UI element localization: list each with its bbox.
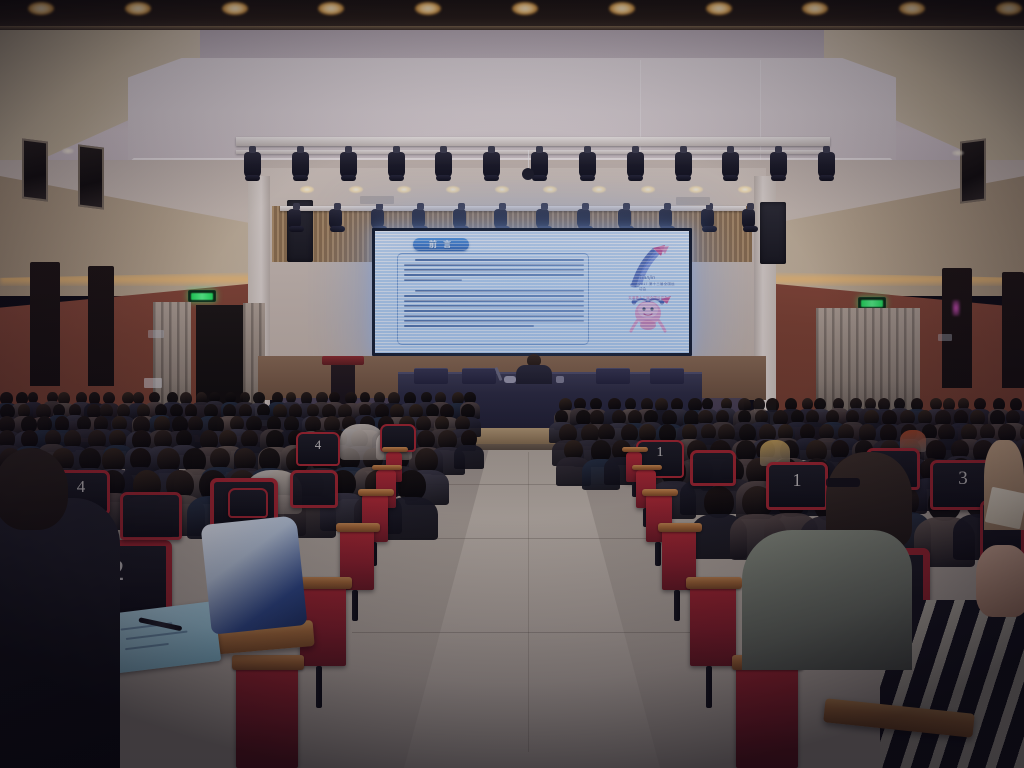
ceiling-recess-light xyxy=(415,2,441,15)
armrest-right xyxy=(686,577,742,589)
slide-body-frame xyxy=(397,253,589,345)
ceiling-downlight xyxy=(446,186,460,193)
seat-number: 4 xyxy=(315,438,322,451)
ceiling-recess-light xyxy=(899,2,925,15)
seat-number: 1 xyxy=(793,471,802,489)
ceiling-recess-light xyxy=(222,2,248,15)
upper-window xyxy=(22,138,48,201)
stage-light xyxy=(483,152,500,178)
stage-light-lower xyxy=(618,209,631,229)
stage-light-lower xyxy=(494,209,507,229)
desk-object xyxy=(504,376,516,383)
ceiling-vent xyxy=(676,197,710,205)
desk-object xyxy=(556,376,564,383)
seat-number: 4 xyxy=(77,478,86,495)
stage-light-lower xyxy=(453,209,466,229)
presenter xyxy=(516,354,552,382)
slide-text-line xyxy=(404,310,584,312)
stage-light-lower xyxy=(329,209,342,229)
auditorium-seat[interactable] xyxy=(120,492,182,540)
ceiling-downlight xyxy=(300,186,314,193)
seat-end-left[interactable] xyxy=(236,660,298,768)
stage-light xyxy=(244,152,261,178)
table-monitor[interactable] xyxy=(596,368,630,384)
stage-light-lower xyxy=(742,209,755,229)
wall-panel-box xyxy=(144,378,162,388)
exit-sign-glow xyxy=(861,300,883,307)
upper-window xyxy=(78,144,104,209)
upper-window xyxy=(960,138,986,203)
slide-text-line xyxy=(415,290,584,292)
slide-text-line xyxy=(404,315,584,317)
auditorium-seat[interactable] xyxy=(228,488,268,518)
slide-text-line xyxy=(404,320,584,322)
table-monitor[interactable] xyxy=(462,368,496,384)
seat-end-right[interactable] xyxy=(736,660,798,768)
ceiling-downlight xyxy=(641,186,655,193)
ceiling-seam xyxy=(640,60,641,164)
foreground-person-left-head xyxy=(0,448,68,530)
seat-number: 3 xyxy=(958,469,968,488)
armrest-left xyxy=(336,523,380,532)
slide-text-line xyxy=(404,300,584,302)
armrest-right xyxy=(642,489,678,496)
foreground-person-left xyxy=(0,498,120,768)
door-recess[interactable] xyxy=(30,262,60,386)
accent-light-right xyxy=(952,300,960,316)
audience-body xyxy=(454,445,484,469)
stage-light xyxy=(579,152,596,178)
ceiling-recess-light xyxy=(609,2,635,15)
seated-person-body-right xyxy=(742,530,912,670)
stage-light-lower xyxy=(412,209,425,229)
wall-speaker-right xyxy=(760,202,786,264)
presenter-body xyxy=(516,365,552,384)
ceiling-vent xyxy=(360,196,394,204)
stage-light xyxy=(722,152,739,178)
stage-light-lower xyxy=(701,209,714,229)
seat-leg xyxy=(706,666,712,708)
ceiling-recess-light xyxy=(512,2,538,15)
door-recess[interactable] xyxy=(88,266,114,386)
armrest-left xyxy=(382,447,408,452)
stage-light-lower xyxy=(536,209,549,229)
seat-leg xyxy=(655,542,661,566)
stage-light xyxy=(292,152,309,178)
auditorium-seat[interactable]: 1 xyxy=(766,462,828,510)
slide-text-line xyxy=(404,305,584,307)
ceiling-recess-light xyxy=(706,2,732,15)
stage-light xyxy=(770,152,787,178)
stage-light-lower xyxy=(371,209,384,229)
table-monitor[interactable] xyxy=(414,368,448,384)
armrest-right xyxy=(632,465,662,470)
slide-text-line xyxy=(404,279,462,281)
wall-sign-plate-right xyxy=(938,334,952,341)
seat-leg xyxy=(316,666,322,708)
screen-surface: 前 言 Tianjin 2017 第十三届全国运动会 xyxy=(375,231,689,353)
tile-seam-vertical xyxy=(528,452,529,752)
armrest-left xyxy=(296,577,352,589)
notebook-line xyxy=(126,630,188,640)
table-monitor[interactable] xyxy=(650,368,684,384)
ceiling-seam xyxy=(760,60,761,164)
ceiling-recess-light xyxy=(28,2,54,15)
seat-number: 1 xyxy=(657,446,664,460)
stage-light-lower xyxy=(577,209,590,229)
stage-light xyxy=(675,152,692,178)
stage-light xyxy=(388,152,405,178)
eyeglasses xyxy=(826,478,860,487)
hanging-fixture xyxy=(522,168,534,180)
auditorium-scene: 前 言 Tianjin 2017 第十三届全国运动会 xyxy=(0,0,1024,768)
ceiling-downlight xyxy=(738,186,752,193)
slide-text-line xyxy=(404,325,534,327)
pen[interactable] xyxy=(138,617,182,631)
lighting-truss-lower xyxy=(280,206,746,211)
lectern-top xyxy=(322,356,364,365)
ceiling-downlight xyxy=(349,186,363,193)
stage-light-lower xyxy=(659,209,672,229)
backpack xyxy=(201,515,308,634)
exit-sign-left xyxy=(188,290,216,302)
armrest-right xyxy=(622,447,648,452)
door-recess[interactable] xyxy=(942,268,972,388)
ceiling-downlight xyxy=(592,186,606,193)
auditorium-seat[interactable]: 4 xyxy=(296,432,340,466)
tile-seam xyxy=(352,632,712,633)
notebook-line xyxy=(125,643,169,650)
door-recess[interactable] xyxy=(1002,272,1024,388)
foreground-person-right-arm xyxy=(976,545,1024,617)
armrest-right xyxy=(658,523,702,532)
stage-light-lower xyxy=(288,209,301,229)
armrest-left xyxy=(372,465,402,470)
ceiling-downlight xyxy=(495,186,509,193)
wall-sign-plate-left xyxy=(148,330,164,338)
slide-text-line xyxy=(415,259,584,261)
ceiling-downlight xyxy=(62,148,74,154)
slide: 前 言 Tianjin 2017 第十三届全国运动会 xyxy=(375,231,689,353)
stage-light xyxy=(340,152,357,178)
stage-light xyxy=(627,152,644,178)
slide-text-line xyxy=(404,295,584,297)
stage-light xyxy=(435,152,452,178)
presentation-screen[interactable]: 前 言 Tianjin 2017 第十三届全国运动会 xyxy=(372,228,692,356)
mascot-caption: 天津第十三届全国运动会 xyxy=(625,295,671,300)
tile-seam xyxy=(400,538,666,539)
seat-leg xyxy=(674,590,680,621)
doorway-left[interactable] xyxy=(196,305,250,405)
slide-text-line xyxy=(404,264,584,266)
ceiling-downlight xyxy=(952,150,964,156)
auditorium-seat[interactable] xyxy=(690,450,736,486)
stage-light xyxy=(818,152,835,178)
slide-text-line xyxy=(404,284,584,286)
open-book xyxy=(985,487,1024,530)
door-curtain-right xyxy=(816,308,920,412)
slide-text-line xyxy=(404,269,584,271)
armrest-left xyxy=(358,489,394,496)
ceiling-recess xyxy=(0,0,1024,30)
slide-text-line xyxy=(404,274,584,276)
slide-title: 前 言 xyxy=(429,241,453,249)
exit-sign-glow xyxy=(191,293,213,300)
ceiling-recess-light xyxy=(125,2,151,15)
armrest-left xyxy=(232,655,304,670)
auditorium-seat[interactable] xyxy=(290,470,338,508)
seat-leg xyxy=(352,590,358,621)
lighting-truss-upper xyxy=(236,137,830,146)
ceiling-recess-light xyxy=(996,2,1022,15)
seat-end-right[interactable] xyxy=(690,582,736,666)
slide-body-text xyxy=(404,259,584,330)
slide-title-badge: 前 言 xyxy=(413,238,469,251)
event-logo: Tianjin 2017 第十三届全国运动会 xyxy=(619,245,677,345)
